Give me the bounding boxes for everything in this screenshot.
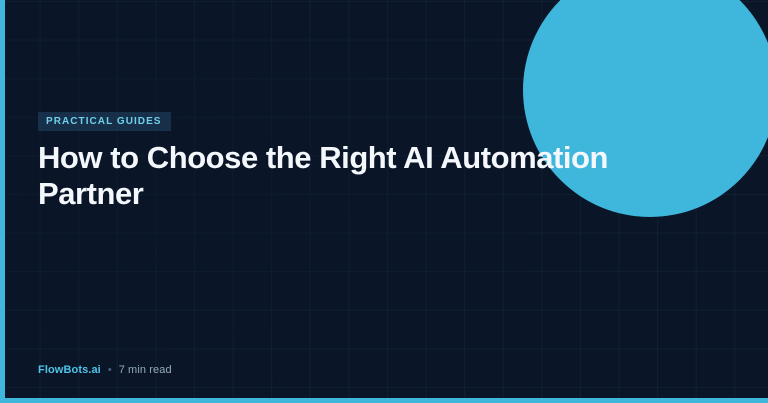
bottom-accent-bar (0, 398, 768, 403)
hero-content: PRACTICAL GUIDES How to Choose the Right… (38, 112, 708, 212)
brand-name[interactable]: FlowBots.ai (38, 365, 101, 376)
read-time-label: 7 min read (119, 365, 172, 376)
category-badge[interactable]: PRACTICAL GUIDES (38, 112, 171, 131)
page-title: How to Choose the Right AI Automation Pa… (38, 140, 683, 212)
left-accent-bar (0, 0, 5, 403)
separator-dot-icon: • (108, 365, 112, 376)
footer-meta: FlowBots.ai • 7 min read (38, 365, 172, 376)
blog-hero-card: PRACTICAL GUIDES How to Choose the Right… (0, 0, 768, 403)
